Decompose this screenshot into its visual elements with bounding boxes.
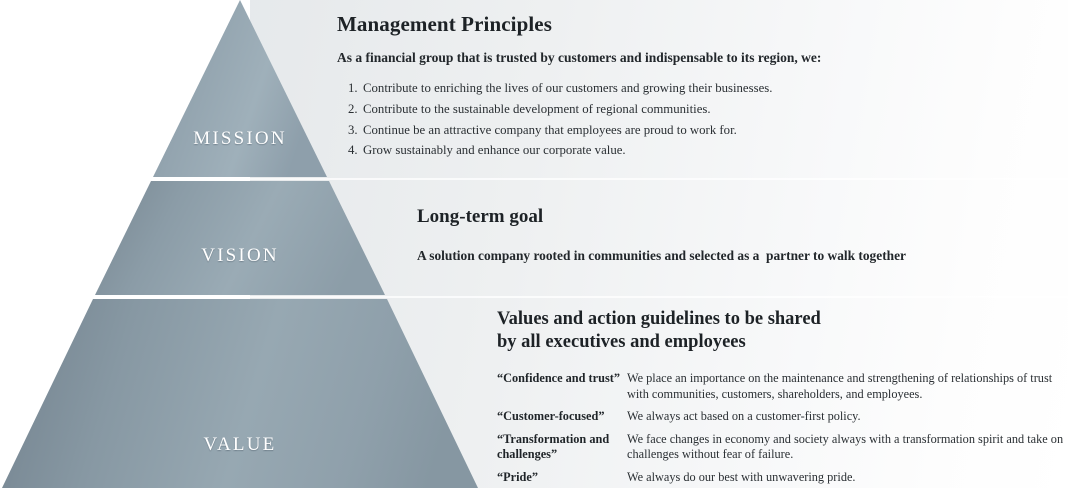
value-term: “Customer-focused” (497, 409, 627, 432)
management-principles-diagram: MISSION VISION VALUE Management Principl… (0, 0, 1068, 488)
pyramid-tier-mission (153, 0, 327, 177)
value-content: Values and action guidelines to be share… (497, 308, 1068, 488)
pyramid-tier-label-vision: VISION (160, 245, 320, 267)
value-description: We place an importance on the maintenanc… (627, 371, 1068, 409)
list-item-number: 2. (348, 99, 363, 120)
list-item-number: 4. (348, 140, 363, 161)
list-item: 2.Contribute to the sustainable developm… (348, 99, 1037, 120)
mission-principle-list: 1.Contribute to enriching the lives of o… (337, 78, 1037, 161)
vision-title: Long-term goal (417, 207, 1057, 228)
list-item: 3.Continue be an attractive company that… (348, 120, 1037, 141)
value-term: “Confidence and trust” (497, 371, 627, 409)
value-guidelines-table: “Confidence and trust” We place an impor… (497, 371, 1068, 488)
table-row: “Pride” We always do our best with unwav… (497, 470, 1068, 488)
vision-content: Long-term goal A solution company rooted… (417, 207, 1057, 265)
list-item-number: 3. (348, 120, 363, 141)
list-item: 1.Contribute to enriching the lives of o… (348, 78, 1037, 99)
value-description: We always do our best with unwavering pr… (627, 470, 1068, 488)
list-item-text: Grow sustainably and enhance our corpora… (363, 143, 626, 157)
value-title-line-1: Values and action guidelines to be share… (497, 309, 821, 329)
value-title-line-2: by all executives and employees (497, 332, 746, 352)
pyramid-tier-label-value: VALUE (160, 434, 320, 456)
value-term: “Pride” (497, 470, 627, 488)
list-item-text: Contribute to the sustainable developmen… (363, 102, 711, 116)
value-description: We face changes in economy and society a… (627, 432, 1068, 470)
value-description: We always act based on a customer-first … (627, 409, 1068, 432)
mission-lead: As a financial group that is trusted by … (337, 50, 1037, 67)
value-title: Values and action guidelines to be share… (497, 308, 1068, 354)
value-term: “Transformation and challenges” (497, 432, 627, 470)
pyramid-tier-vision (95, 181, 385, 295)
pyramid-tier-value (2, 299, 478, 488)
table-row: “Customer-focused” We always act based o… (497, 409, 1068, 432)
list-item-text: Continue be an attractive company that e… (363, 123, 737, 137)
table-row: “Confidence and trust” We place an impor… (497, 371, 1068, 409)
vision-lead: A solution company rooted in communities… (417, 248, 1057, 265)
mission-content: Management Principles As a financial gro… (337, 13, 1037, 161)
list-item: 4.Grow sustainably and enhance our corpo… (348, 140, 1037, 161)
list-item-number: 1. (348, 78, 363, 99)
pyramid-tier-label-mission: MISSION (160, 128, 320, 150)
list-item-text: Contribute to enriching the lives of our… (363, 81, 772, 95)
table-row: “Transformation and challenges” We face … (497, 432, 1068, 470)
mission-title: Management Principles (337, 13, 1037, 36)
